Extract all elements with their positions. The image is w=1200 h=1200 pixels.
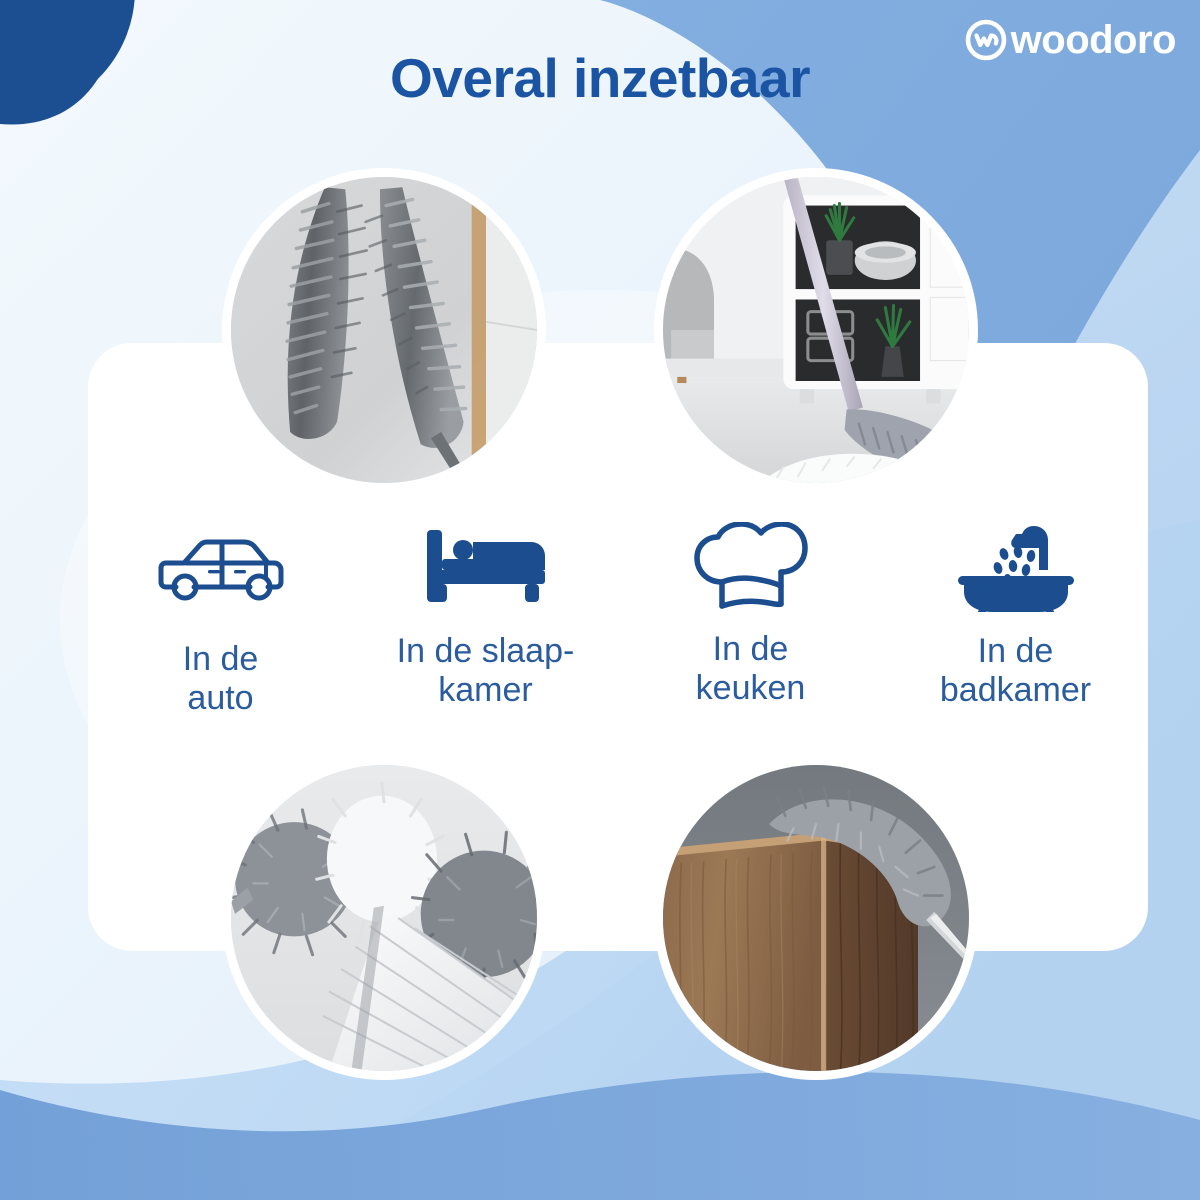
- feature-icon-wrap: [691, 520, 811, 612]
- feature-icon-wrap: [956, 520, 1076, 612]
- feature-label-slaapkamer: In de slaap- kamer: [397, 632, 575, 710]
- feature-label-keuken: In de keuken: [696, 630, 806, 708]
- feature-item-badkamer[interactable]: In de badkamer: [883, 520, 1148, 730]
- bathtub-shower-icon: [956, 520, 1076, 612]
- feature-label-badkamer: In de badkamer: [940, 632, 1091, 710]
- photo-duster-heads-radiator: [222, 756, 546, 1080]
- photo-duster-closeup: [222, 168, 546, 492]
- feature-item-keuken[interactable]: In de keuken: [618, 520, 883, 730]
- photo-disc: [663, 765, 969, 1071]
- photo-wardrobe-top: [654, 756, 978, 1080]
- feature-row: In de auto: [88, 520, 1148, 730]
- car-icon: [156, 534, 286, 610]
- feature-icon-wrap: [423, 520, 549, 612]
- photo-living-room-shelf: [654, 168, 978, 492]
- feature-item-slaapkamer[interactable]: In de slaap- kamer: [353, 520, 618, 730]
- wardrobe-top-illustration: [663, 765, 969, 1071]
- duster-heads-radiator-illustration: [231, 765, 537, 1071]
- bed-icon: [423, 526, 549, 606]
- photo-disc: [231, 765, 537, 1071]
- brand-logo: woodoro: [964, 18, 1176, 62]
- photo-disc: [231, 177, 537, 483]
- feature-item-auto[interactable]: In de auto: [88, 526, 353, 730]
- circled-w-monogram-icon: [964, 18, 1008, 62]
- brand-name: woodoro: [1011, 20, 1176, 60]
- feature-label-auto: In de auto: [183, 640, 259, 718]
- chef-hat-icon: [691, 522, 811, 610]
- duster-closeup-illustration: [231, 177, 537, 483]
- feature-icon-wrap: [156, 526, 286, 618]
- photo-disc: [663, 177, 969, 483]
- living-room-shelf-illustration: [663, 177, 969, 483]
